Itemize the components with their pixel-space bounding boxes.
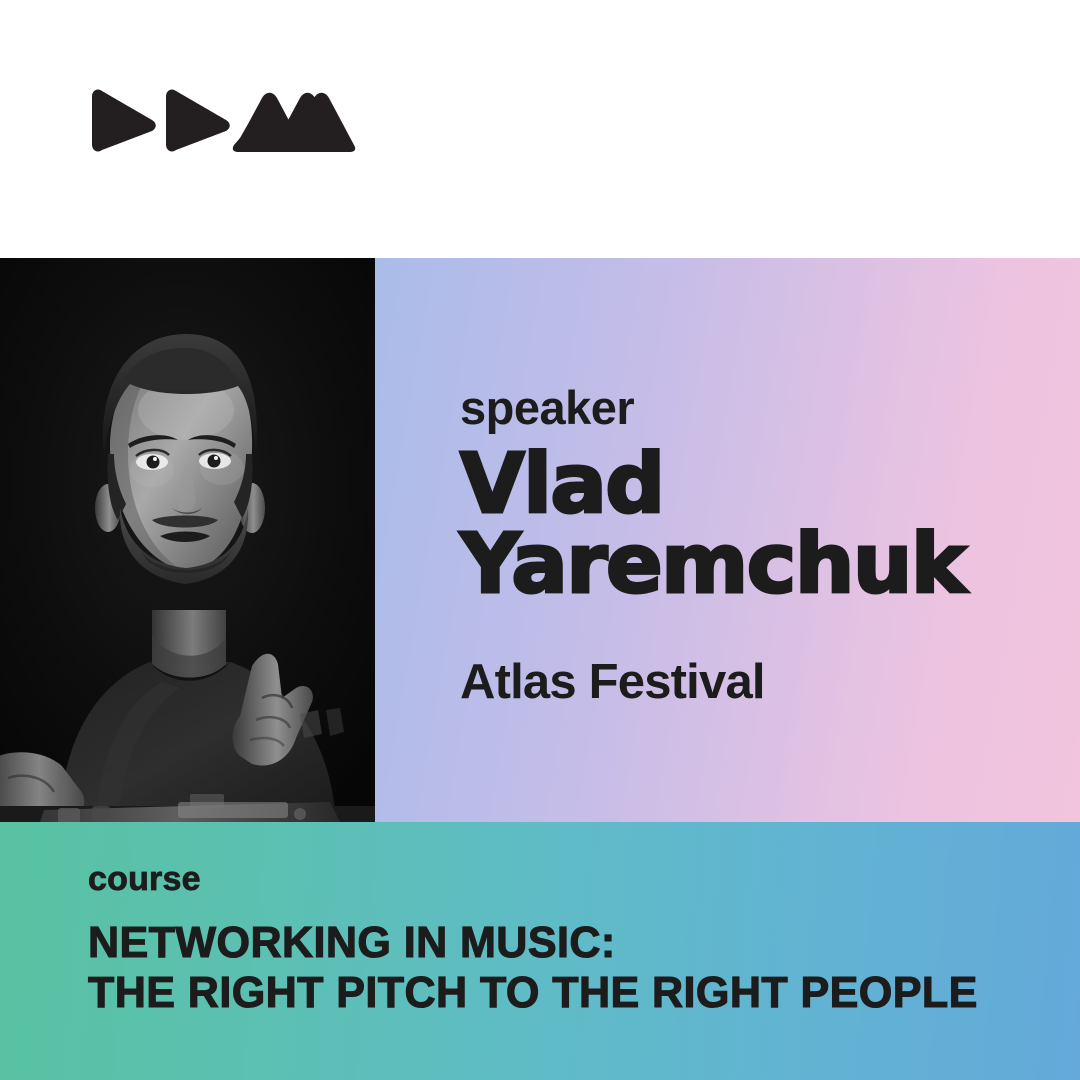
speaker-photo <box>0 258 375 822</box>
header <box>0 0 1080 258</box>
speaker-info-panel: speaker Vlad Yaremchuk Atlas Festival <box>375 258 1080 822</box>
speaker-section: speaker Vlad Yaremchuk Atlas Festival <box>0 258 1080 822</box>
speaker-announcement-card: speaker Vlad Yaremchuk Atlas Festival co… <box>0 0 1080 1080</box>
speaker-name: Vlad Yaremchuk <box>460 445 1072 606</box>
course-section: course NETWORKING IN MUSIC: THE RIGHT PI… <box>0 822 1080 1080</box>
speaker-kicker-label: speaker <box>460 384 1060 431</box>
play-triangle-icon <box>92 90 156 152</box>
speaker-text-block: speaker Vlad Yaremchuk Atlas Festival <box>460 384 1060 707</box>
course-kicker-label: course <box>88 862 201 896</box>
speaker-organization: Atlas Festival <box>460 658 1060 707</box>
ddma-logo[interactable] <box>88 88 356 153</box>
course-title: NETWORKING IN MUSIC: THE RIGHT PITCH TO … <box>88 918 978 1018</box>
play-triangle-icon <box>166 90 230 152</box>
